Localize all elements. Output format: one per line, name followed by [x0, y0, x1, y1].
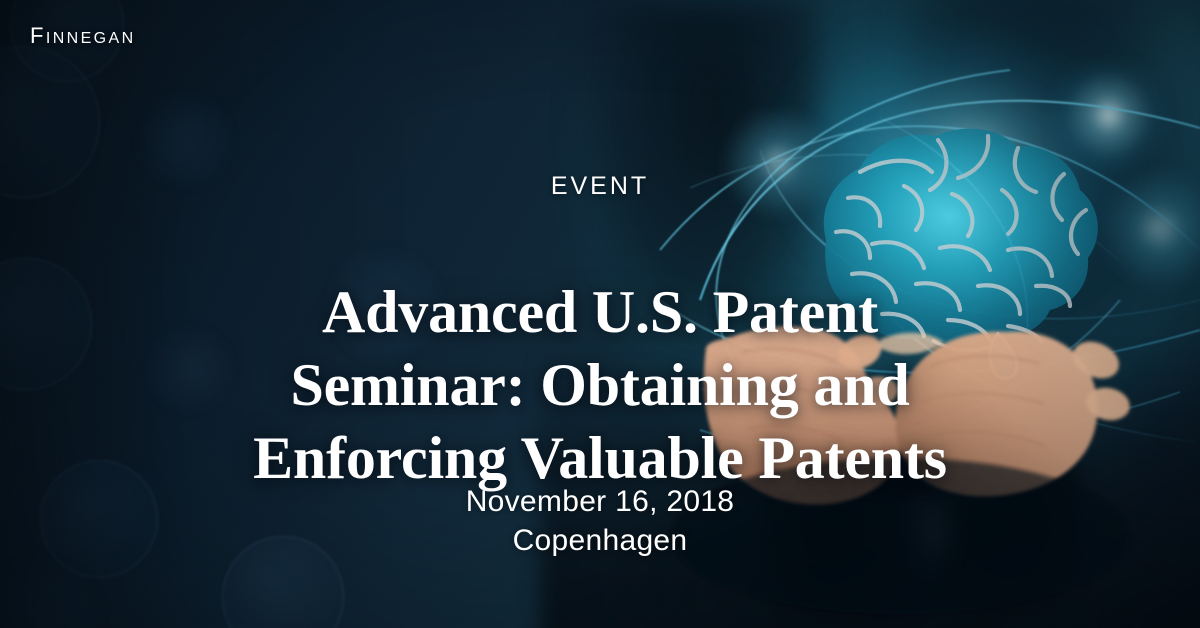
page-title: Advanced U.S. Patent Seminar: Obtaining … [0, 276, 1200, 495]
headline-line-1: Advanced U.S. Patent [0, 276, 1200, 349]
finnegan-logo[interactable]: FINNEGAN [30, 17, 136, 48]
content-type-label: EVENT [0, 172, 1200, 201]
logo-initial: F [30, 15, 46, 50]
event-promo-banner: FINNEGAN EVENT Advanced U.S. Patent Semi… [0, 0, 1200, 628]
logo-remainder: INNEGAN [46, 22, 136, 48]
headline-line-2: Seminar: Obtaining and [0, 349, 1200, 422]
event-date: November 16, 2018 [0, 482, 1200, 521]
event-meta: November 16, 2018 Copenhagen [0, 482, 1200, 560]
event-location: Copenhagen [0, 521, 1200, 560]
